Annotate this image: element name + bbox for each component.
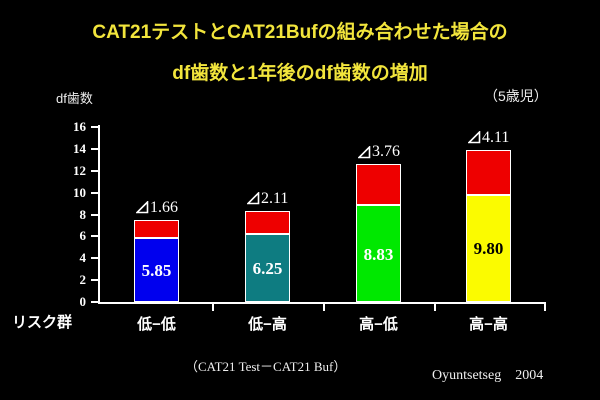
increment-value-label: 2.11: [261, 190, 288, 208]
y-axis-tick: [91, 170, 99, 172]
bar-value-label: 5.85: [135, 261, 178, 281]
y-axis-tick: [91, 214, 99, 216]
bar-segment-base[interactable]: 9.80: [466, 195, 511, 302]
increment-annotation: 3.76: [358, 143, 400, 161]
delta-triangle-icon: [468, 131, 481, 144]
credit-line: Oyuntsetseg 2004: [432, 364, 543, 384]
x-axis-tick: [212, 304, 214, 311]
increment-value-label: 1.66: [150, 199, 178, 217]
y-axis-tick-label: 8: [56, 208, 86, 221]
y-axis-tick-label: 14: [56, 142, 86, 155]
y-axis-tick: [91, 126, 99, 128]
y-axis-tick-label: 2: [56, 273, 86, 286]
increment-annotation: 4.11: [468, 129, 509, 147]
bar-value-label: 9.80: [467, 239, 510, 259]
bar-segment-base[interactable]: 5.85: [134, 238, 179, 302]
bar-segment-increment[interactable]: [356, 164, 401, 205]
risk-group-axis-label: リスク群: [12, 311, 72, 332]
y-axis-tick-label: 10: [56, 186, 86, 199]
y-axis-tick: [91, 301, 99, 303]
bar-segment-increment[interactable]: [134, 220, 179, 238]
x-axis-category-label: 低−高: [232, 313, 303, 334]
bar-segment-increment[interactable]: [466, 150, 511, 195]
bar-segment-increment[interactable]: [245, 211, 290, 234]
y-axis-tick: [91, 257, 99, 259]
bar-segment-base[interactable]: 6.25: [245, 234, 290, 302]
increment-value-label: 3.76: [372, 143, 400, 161]
bar-value-label: 8.83: [357, 245, 400, 265]
delta-triangle-icon: [247, 192, 260, 205]
x-axis-category-label: 高−高: [453, 313, 524, 334]
y-axis-tick-label: 4: [56, 251, 86, 264]
x-axis-category-label: 高−低: [343, 313, 414, 334]
y-axis-tick: [91, 279, 99, 281]
increment-annotation: 1.66: [136, 199, 178, 217]
bar-chart: 0246810121416 5.851.666.252.118.833.769.…: [0, 0, 600, 400]
y-axis-tick: [91, 148, 99, 150]
x-axis-tick: [544, 304, 546, 311]
y-axis-tick-label: 0: [56, 295, 86, 308]
x-axis-tick: [323, 304, 325, 311]
y-axis-tick-label: 16: [56, 120, 86, 133]
x-axis-tick: [434, 304, 436, 311]
increment-value-label: 4.11: [482, 129, 509, 147]
y-axis-tick: [91, 192, 99, 194]
x-axis-category-label: 低−低: [121, 313, 192, 334]
sub-note: （CAT21 Test－CAT21 Buf）: [185, 356, 346, 375]
x-axis-line: [98, 302, 546, 304]
y-axis-tick-label: 12: [56, 164, 86, 177]
delta-triangle-icon: [136, 201, 149, 214]
bar-segment-base[interactable]: 8.83: [356, 205, 401, 302]
increment-annotation: 2.11: [247, 190, 288, 208]
delta-triangle-icon: [358, 146, 371, 159]
bar-value-label: 6.25: [246, 259, 289, 279]
y-axis-tick-label: 6: [56, 229, 86, 242]
y-axis-tick: [91, 235, 99, 237]
slide-canvas: CAT21テストとCAT21Bufの組み合わせた場合の df歯数と1年後のdf歯…: [0, 0, 600, 400]
